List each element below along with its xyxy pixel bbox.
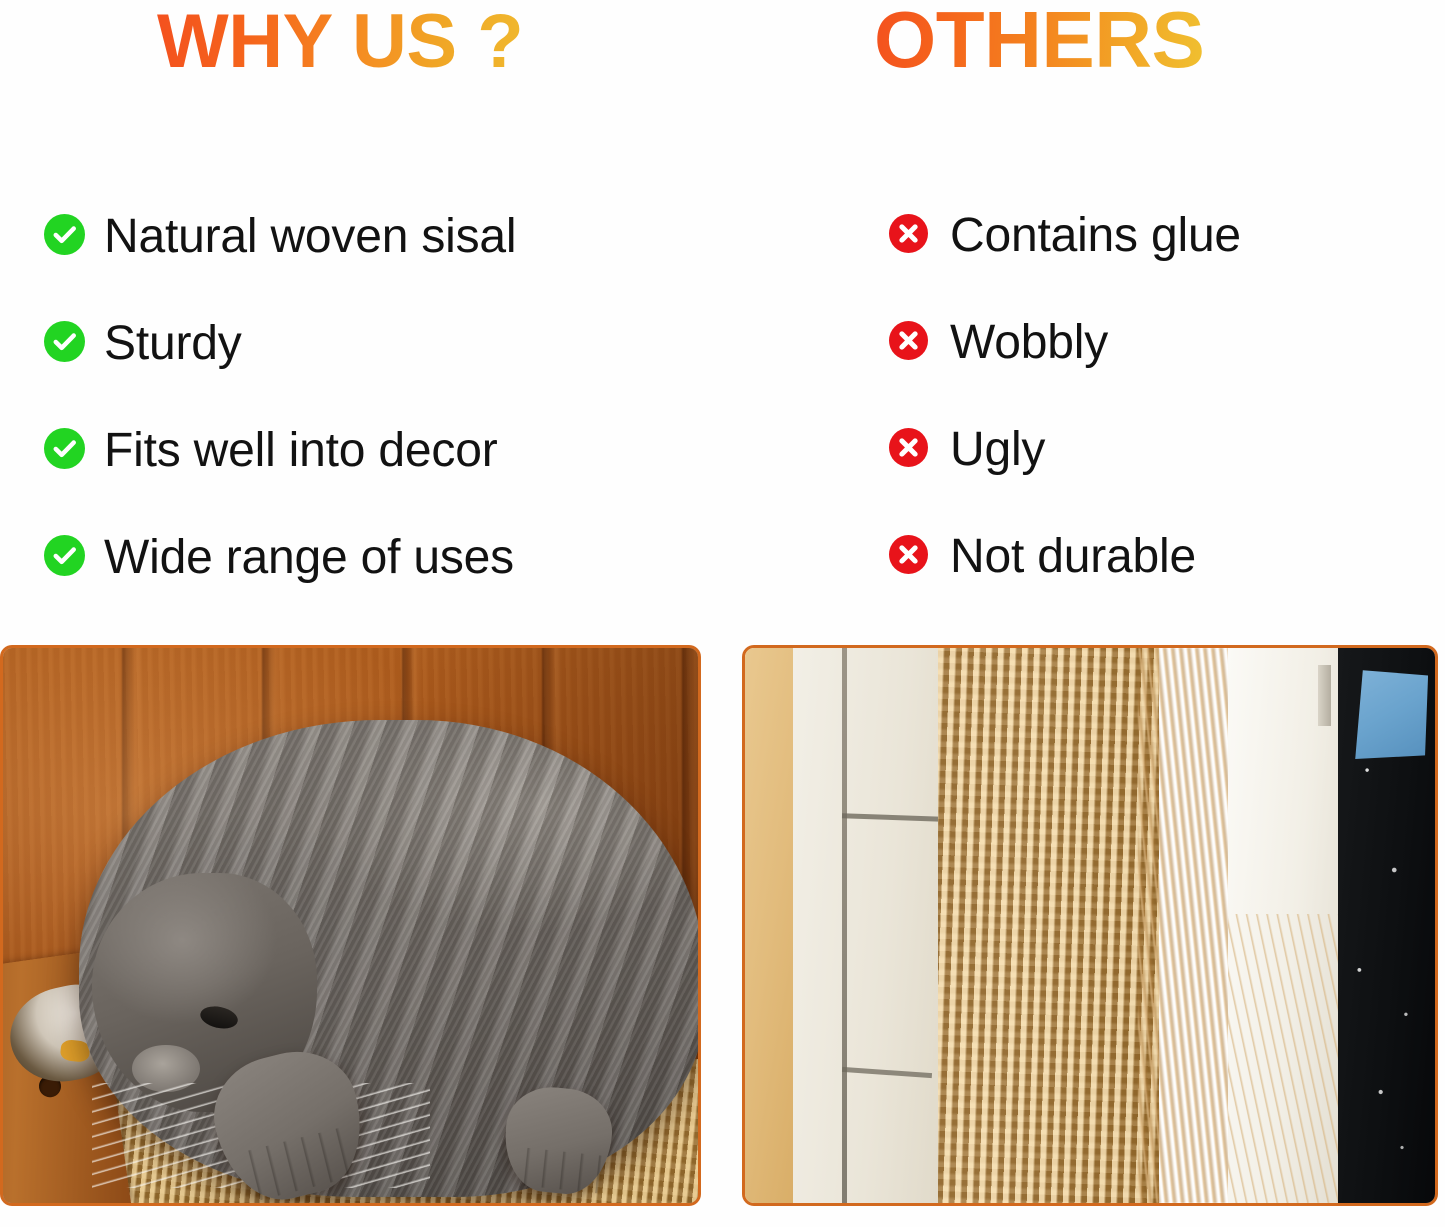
why-us-title: WHY US ? — [157, 4, 523, 80]
cross-circle-icon — [889, 321, 928, 365]
list-item-label: Contains glue — [950, 212, 1241, 260]
wooden-door-edge — [745, 648, 793, 1203]
list-item-label: Ugly — [950, 426, 1045, 474]
cross-circle-icon — [889, 535, 928, 579]
pros-list: Natural woven sisal Sturdy Fits well int… — [44, 183, 516, 611]
comparison-page: WHY US ? OTHERS Natural woven sisal Stur… — [0, 0, 1445, 1227]
list-item: Contains glue — [889, 182, 1241, 289]
list-item: Wobbly — [889, 289, 1241, 396]
check-circle-icon — [44, 321, 85, 367]
list-item-label: Sturdy — [104, 320, 242, 368]
check-circle-icon — [44, 428, 85, 474]
cons-photo — [742, 645, 1438, 1206]
panel-seam-vertical — [842, 648, 847, 1203]
list-item: Not durable — [889, 503, 1241, 610]
list-item: Fits well into decor — [44, 397, 516, 504]
list-item-label: Not durable — [950, 533, 1196, 581]
sisal-weave-texture — [938, 648, 1159, 1203]
list-item: Wide range of uses — [44, 504, 516, 611]
list-item-label: Wide range of uses — [104, 534, 514, 582]
cross-circle-icon — [889, 428, 928, 472]
worn-sisal-strip — [938, 648, 1159, 1203]
pros-photo — [0, 645, 701, 1206]
cat-eye — [198, 1003, 240, 1032]
list-item: Sturdy — [44, 290, 516, 397]
check-circle-icon — [44, 214, 85, 260]
list-item-label: Wobbly — [950, 319, 1108, 367]
list-item: Ugly — [889, 396, 1241, 503]
cons-photo-scene — [745, 648, 1435, 1203]
check-circle-icon — [44, 535, 85, 581]
blue-tape-patch — [1352, 670, 1428, 759]
white-door-panel — [793, 648, 959, 1203]
gray-cat — [79, 720, 698, 1197]
pros-photo-scene — [3, 648, 698, 1203]
frayed-sisal-fibers — [1138, 648, 1242, 1203]
list-item-label: Natural woven sisal — [104, 213, 516, 261]
cons-list: Contains glue Wobbly Ugly — [889, 182, 1241, 610]
cross-circle-icon — [889, 214, 928, 258]
list-item-label: Fits well into decor — [104, 427, 497, 475]
list-item: Natural woven sisal — [44, 183, 516, 290]
others-title: OTHERS — [874, 0, 1204, 80]
door-hinge — [1318, 665, 1332, 726]
